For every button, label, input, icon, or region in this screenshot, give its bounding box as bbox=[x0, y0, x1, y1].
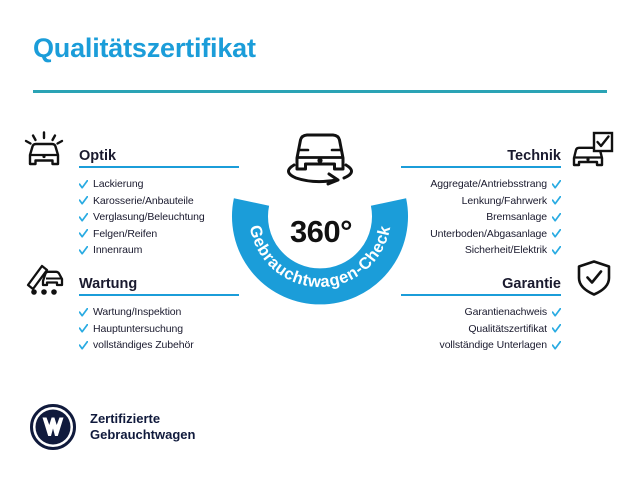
page-title: Qualitätszertifikat bbox=[33, 33, 256, 64]
check-icon bbox=[79, 341, 88, 350]
check-icon bbox=[552, 180, 561, 189]
list-item: vollständige Unterlagen bbox=[391, 337, 561, 354]
section-underline-optik bbox=[79, 166, 239, 168]
list-item-label: Felgen/Reifen bbox=[93, 228, 157, 240]
list-item-label: Garantienachweis bbox=[465, 306, 547, 318]
check-icon bbox=[552, 341, 561, 350]
360-gebrauchtwagen-check-badge: Gebrauchtwagen-Check 360° bbox=[222, 118, 418, 314]
wrench-car-icon bbox=[22, 259, 66, 297]
list-item-label: Unterboden/Abgasanlage bbox=[430, 228, 547, 240]
header-divider bbox=[33, 90, 607, 93]
check-icon bbox=[79, 196, 88, 205]
check-icon bbox=[79, 324, 88, 333]
list-item-label: vollständiges Zubehör bbox=[93, 339, 194, 351]
list-item: Qualitätszertifikat bbox=[391, 321, 561, 338]
check-icon bbox=[79, 213, 88, 222]
footer-logo-block: Zertifizierte Gebrauchtwagen bbox=[30, 404, 195, 450]
check-icon bbox=[79, 246, 88, 255]
section-title-technik: Technik bbox=[507, 148, 561, 164]
section-title-optik: Optik bbox=[79, 148, 116, 164]
list-item-label: Bremsanlage bbox=[486, 211, 547, 223]
list-item-label: Lackierung bbox=[93, 178, 143, 190]
qualitaetszertifikat-page: Qualitätszertifikat Optik Lackierung bbox=[0, 0, 640, 480]
list-item-label: Wartung/Inspektion bbox=[93, 306, 181, 318]
section-underline-garantie bbox=[401, 294, 561, 296]
check-icon bbox=[552, 308, 561, 317]
section-underline-wartung bbox=[79, 294, 239, 296]
footer-line-1: Zertifizierte bbox=[90, 411, 195, 427]
section-title-garantie: Garantie bbox=[502, 276, 561, 292]
list-item-label: Verglasung/Beleuchtung bbox=[93, 211, 205, 223]
check-icon bbox=[552, 324, 561, 333]
section-title-wartung: Wartung bbox=[79, 276, 137, 292]
list-item-label: Qualitätszertifikat bbox=[468, 323, 547, 335]
check-icon bbox=[552, 246, 561, 255]
vw-logo bbox=[30, 404, 76, 450]
check-icon bbox=[79, 308, 88, 317]
car-checkbox-icon bbox=[570, 131, 614, 169]
list-item-label: Aggregate/Antriebsstrang bbox=[430, 178, 547, 190]
footer-text: Zertifizierte Gebrauchtwagen bbox=[90, 411, 195, 443]
shield-check-icon bbox=[572, 259, 616, 297]
car-shine-icon bbox=[22, 131, 66, 169]
list-item-label: vollständige Unterlagen bbox=[440, 339, 547, 351]
list-item-label: Hauptuntersuchung bbox=[93, 323, 183, 335]
car-rotate-360-icon bbox=[274, 120, 366, 186]
check-icon bbox=[552, 213, 561, 222]
check-icon bbox=[552, 196, 561, 205]
section-underline-technik bbox=[401, 166, 561, 168]
list-item: Hauptuntersuchung bbox=[79, 321, 249, 338]
check-icon bbox=[79, 180, 88, 189]
footer-line-2: Gebrauchtwagen bbox=[90, 427, 195, 443]
list-item-label: Innenraum bbox=[93, 244, 142, 256]
list-item-label: Karosserie/Anbauteile bbox=[93, 195, 194, 207]
check-icon bbox=[79, 229, 88, 238]
list-item-label: Sicherheit/Elektrik bbox=[465, 244, 547, 256]
list-item: vollständiges Zubehör bbox=[79, 337, 249, 354]
list-item-label: Lenkung/Fahrwerk bbox=[462, 195, 547, 207]
check-icon bbox=[552, 229, 561, 238]
